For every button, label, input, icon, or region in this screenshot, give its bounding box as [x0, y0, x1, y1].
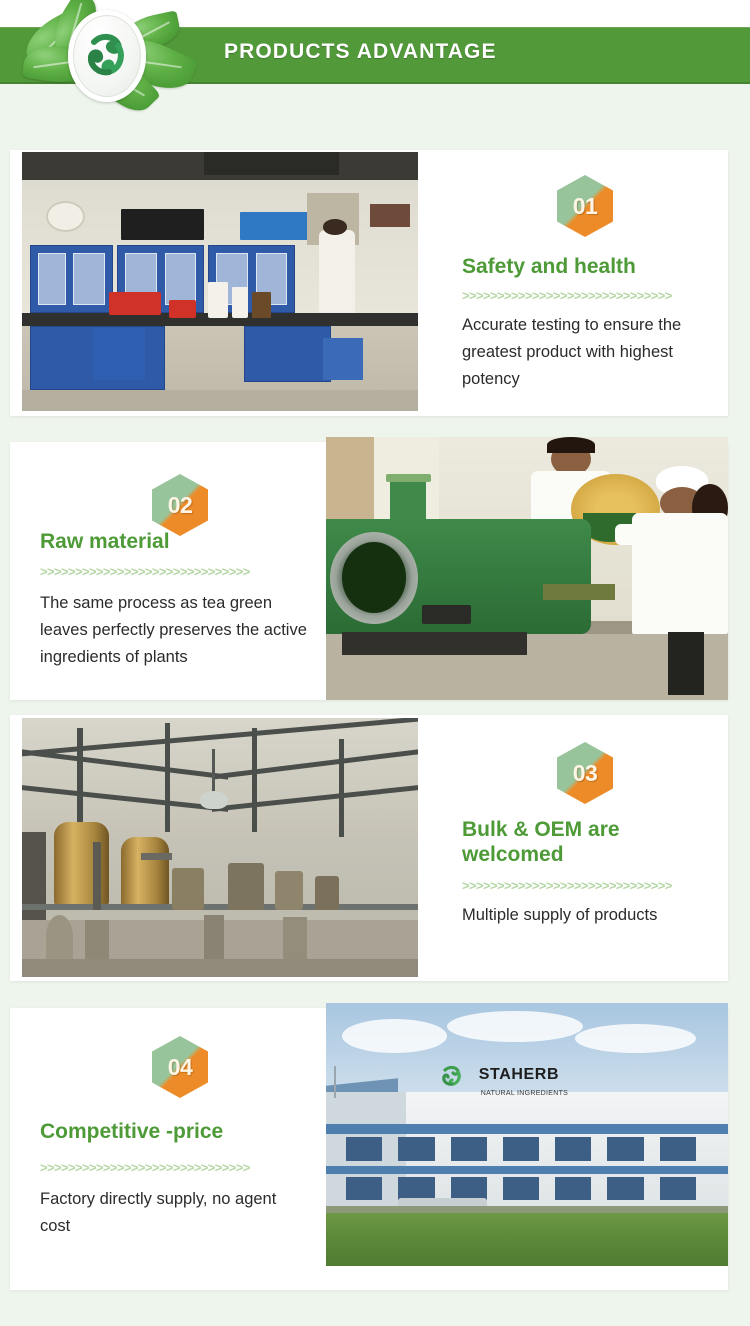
badge-number: 02	[152, 474, 208, 536]
extraction-factory-interior-photo	[22, 718, 418, 977]
hexagon-badge-02: 02	[152, 474, 208, 536]
building-tagline-text: NATURAL INGREDIENTS	[481, 1090, 568, 1097]
triangle-swirl-icon	[80, 28, 134, 84]
advantage-body-01: Accurate testing to ensure the greatest …	[462, 312, 728, 394]
tea-roasting-machine-photo	[326, 437, 728, 700]
chevron-divider: >>>>>>>>>>>>>>>>>>>>>>>>>>>>>>	[40, 1160, 292, 1175]
building-brand-text: STAHERB	[479, 1066, 559, 1084]
advantage-card-03: 03 Bulk & OEM are welcomed >>>>>>>>>>>>>…	[10, 715, 728, 981]
advantage-panel-01: 01 Safety and health >>>>>>>>>>>>>>>>>>>…	[430, 150, 728, 416]
advantage-body-04: Factory directly supply, no agent cost	[40, 1186, 280, 1240]
advantage-title-02: Raw material	[40, 530, 310, 555]
hexagon-badge-01: 01	[557, 175, 613, 237]
chevron-divider: >>>>>>>>>>>>>>>>>>>>>>>>>>>>>>	[462, 288, 714, 303]
chevron-divider: >>>>>>>>>>>>>>>>>>>>>>>>>>>>>>	[40, 564, 292, 579]
advantage-title-01: Safety and health	[462, 255, 724, 280]
advantage-panel-03: 03 Bulk & OEM are welcomed >>>>>>>>>>>>>…	[430, 715, 728, 981]
chevron-divider: >>>>>>>>>>>>>>>>>>>>>>>>>>>>>>	[462, 878, 714, 893]
advantage-card-02: 02 Raw material >>>>>>>>>>>>>>>>>>>>>>>>…	[10, 442, 728, 700]
hexagon-badge-03: 03	[557, 742, 613, 804]
advantage-title-04: Competitive -price	[40, 1120, 320, 1145]
logo-disc	[68, 10, 146, 102]
hexagon-badge-04: 04	[152, 1036, 208, 1098]
staherb-leaf-logo	[22, 2, 202, 114]
staherb-logo-icon	[439, 1063, 465, 1094]
page-title: PRODUCTS ADVANTAGE	[224, 40, 497, 64]
advantage-panel-04: 04 Competitive -price >>>>>>>>>>>>>>>>>>…	[10, 1008, 326, 1290]
advantage-body-03: Multiple supply of products	[462, 902, 728, 929]
badge-number: 04	[152, 1036, 208, 1098]
badge-number: 03	[557, 742, 613, 804]
staherb-factory-building-photo: STAHERB NATURAL INGREDIENTS	[326, 1003, 728, 1266]
advantage-card-04: STAHERB NATURAL INGREDIENTS 04 Competiti…	[10, 1008, 728, 1290]
laboratory-testing-photo	[22, 152, 418, 411]
advantage-card-01: 01 Safety and health >>>>>>>>>>>>>>>>>>>…	[10, 150, 728, 416]
advantage-body-02: The same process as tea green leaves per…	[40, 590, 320, 672]
advantage-title-03: Bulk & OEM are welcomed	[462, 818, 692, 868]
advantage-panel-02: 02 Raw material >>>>>>>>>>>>>>>>>>>>>>>>…	[10, 442, 326, 700]
badge-number: 01	[557, 175, 613, 237]
page-header: PRODUCTS ADVANTAGE	[0, 0, 750, 115]
